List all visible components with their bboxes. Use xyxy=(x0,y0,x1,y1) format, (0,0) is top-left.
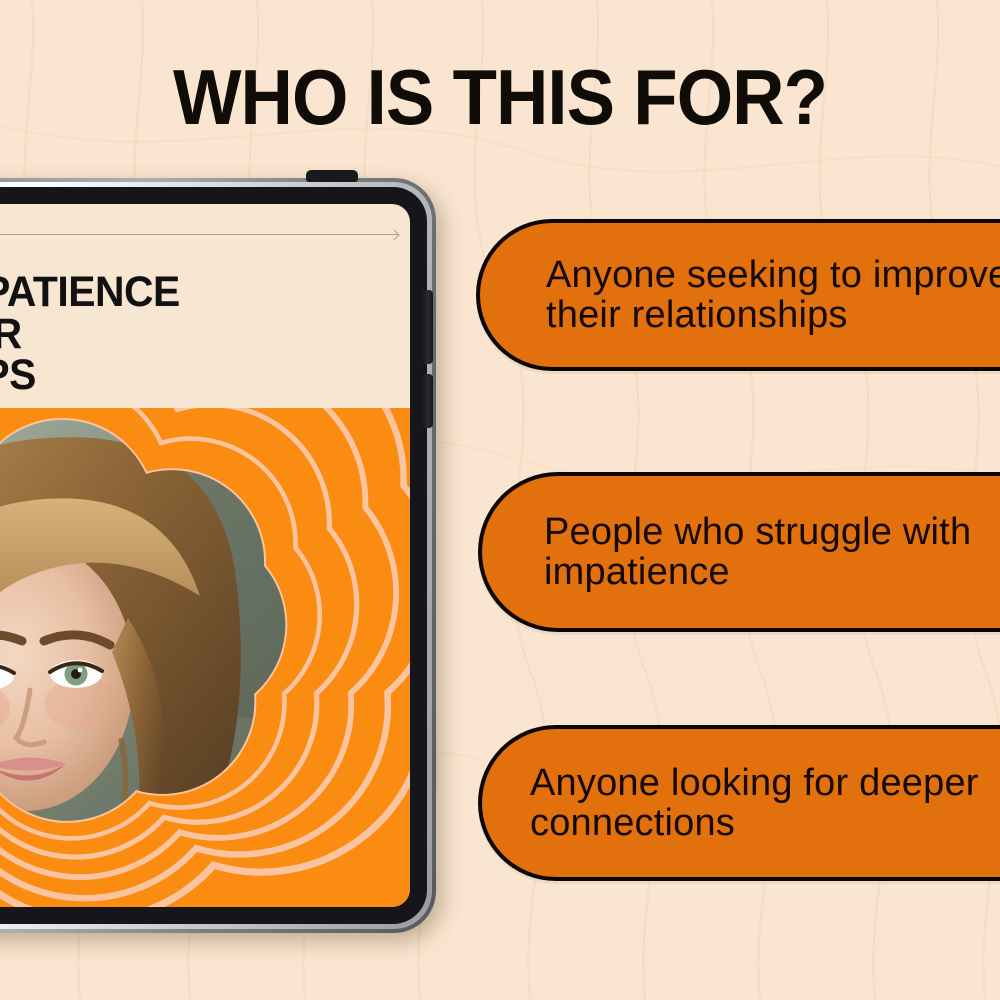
tablet-device: STERING PATIENCE STRONGER ATIONSHIPS xyxy=(0,178,436,933)
audience-pill-1[interactable]: Anyone seeking to improve their relation… xyxy=(476,219,1000,371)
volume-up-button[interactable] xyxy=(422,290,433,364)
cover-title-line-2: STRONGER xyxy=(0,314,383,356)
cover-photo-panel xyxy=(0,408,410,907)
audience-pill-1-label: Anyone seeking to improve their relation… xyxy=(480,255,1000,336)
arrow-rule-icon xyxy=(0,234,398,235)
cover-title-line-1: STERING PATIENCE xyxy=(0,272,383,314)
audience-pill-3-label: Anyone looking for deeper connections xyxy=(482,763,1000,844)
audience-pill-2-label: People who struggle with impatience xyxy=(482,512,1000,593)
ebook-cover-title: STERING PATIENCE STRONGER ATIONSHIPS xyxy=(0,272,383,397)
audience-pill-3[interactable]: Anyone looking for deeper connections xyxy=(478,725,1000,881)
front-camera xyxy=(306,170,358,182)
tablet-screen[interactable]: STERING PATIENCE STRONGER ATIONSHIPS xyxy=(0,204,410,907)
volume-down-button[interactable] xyxy=(422,374,433,428)
audience-pill-2[interactable]: People who struggle with impatience xyxy=(478,472,1000,632)
cover-title-line-3: ATIONSHIPS xyxy=(0,355,383,397)
page-title: WHO IS THIS FOR? xyxy=(35,52,965,143)
cover-portrait-photo xyxy=(0,408,410,907)
slide-canvas: WHO IS THIS FOR? STERING PATIENCE STRONG… xyxy=(0,0,1000,1000)
